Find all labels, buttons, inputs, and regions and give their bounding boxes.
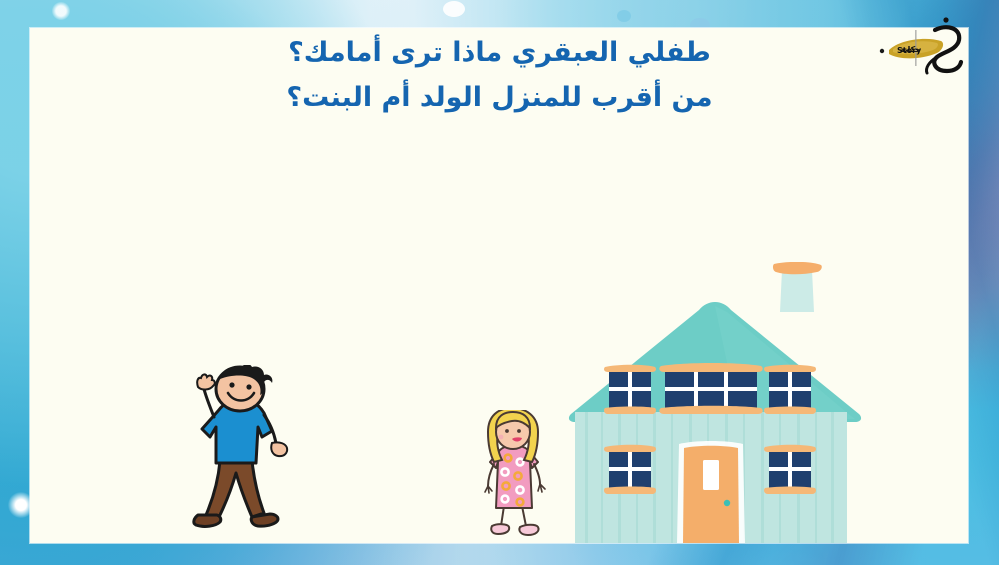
upper-window-left xyxy=(604,365,656,414)
boy-arm-left xyxy=(204,389,214,417)
chimney xyxy=(780,270,814,312)
watercolor-dot xyxy=(617,10,631,22)
chimney-cap xyxy=(773,262,822,274)
front-door[interactable] xyxy=(677,441,745,543)
door-knob xyxy=(724,500,730,506)
lower-window-left xyxy=(604,445,656,494)
girl-eye-left xyxy=(505,429,509,433)
slide: طفلي العبقري ماذا ترى أمامك؟ من أقرب للم… xyxy=(0,0,999,565)
title-line-1: طفلي العبقري ماذا ترى أمامك؟ xyxy=(0,30,999,75)
boy-hand-right xyxy=(271,442,287,456)
watercolor-dot xyxy=(443,1,465,17)
boy-shoe-left xyxy=(194,515,221,526)
boy-shoe-right xyxy=(251,514,278,526)
upper-window-right xyxy=(764,365,816,414)
house-svg xyxy=(555,262,875,543)
boy-eye-right xyxy=(246,384,251,389)
girl-shoe-right xyxy=(519,525,538,535)
title-block: طفلي العبقري ماذا ترى أمامك؟ من أقرب للم… xyxy=(0,30,999,120)
girl-shoe-left xyxy=(491,524,509,534)
boy-character xyxy=(186,365,296,537)
logo-dot-left xyxy=(880,49,884,53)
house-illustration xyxy=(555,262,875,543)
upper-window-center xyxy=(659,363,762,414)
logo-arabic-text: حكاية xyxy=(900,45,922,54)
title-line-2: من أقرب للمنزل الولد أم البنت؟ xyxy=(0,75,999,120)
boy-pants xyxy=(206,461,264,519)
girl-arm-right xyxy=(534,464,540,484)
girl-cheek xyxy=(499,435,504,440)
girl-eye-right xyxy=(517,429,521,433)
girl-svg xyxy=(468,410,560,543)
logo-calligraphy-dot xyxy=(943,17,948,22)
logo-svg: Story حكاية xyxy=(875,10,967,82)
boy-eye-left xyxy=(229,382,234,387)
girl-character xyxy=(468,410,560,543)
watercolor-dot xyxy=(52,2,70,20)
boy-svg xyxy=(186,365,296,537)
boy-hand-waving xyxy=(197,374,215,389)
girl-hand-left xyxy=(485,486,492,493)
girl-arm-left xyxy=(488,464,494,486)
lower-window-right xyxy=(764,445,816,494)
brand-logo: Story حكاية xyxy=(875,10,967,82)
girl-hand-right xyxy=(538,484,545,492)
door-window xyxy=(703,460,719,490)
